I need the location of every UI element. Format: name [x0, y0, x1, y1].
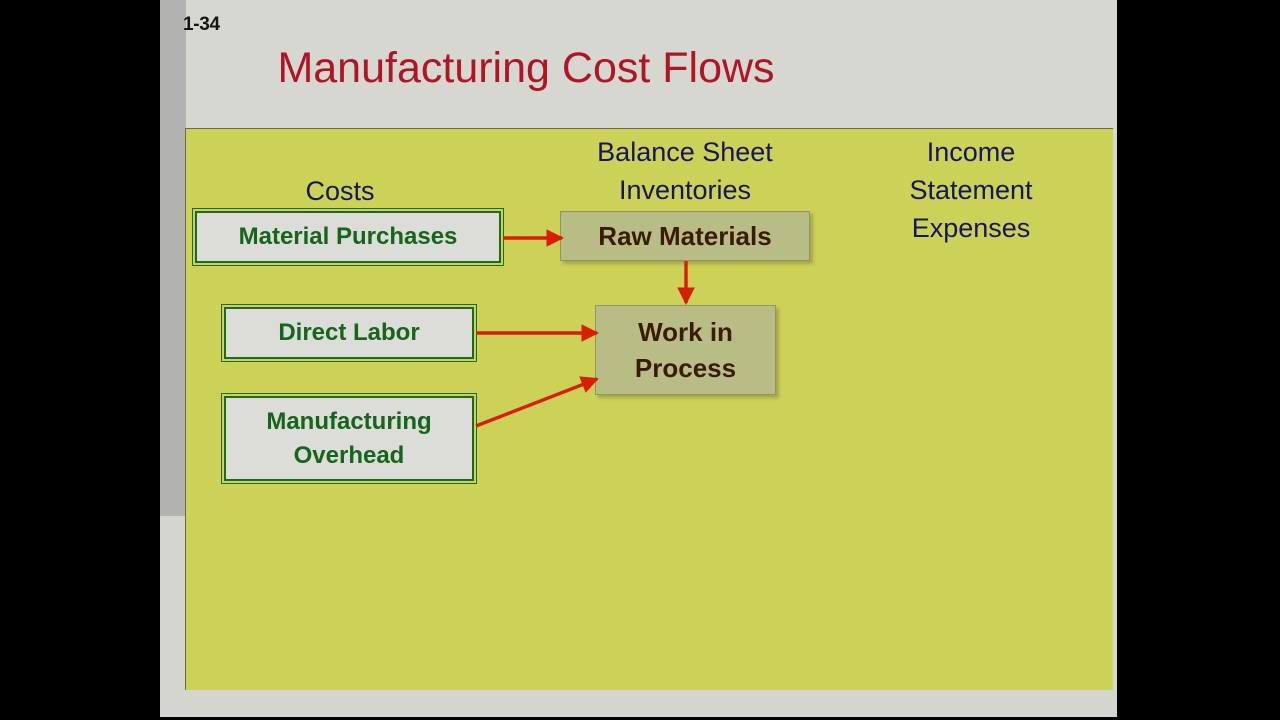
column-header-income-line3: Expenses: [875, 209, 1067, 247]
node-manufacturing-overhead-line2: Overhead: [266, 439, 431, 473]
node-material-purchases: Material Purchases: [195, 211, 501, 263]
slide-number: 1-34: [183, 14, 220, 36]
node-raw-materials-label: Raw Materials: [598, 218, 771, 254]
column-header-income-line2: Statement: [875, 171, 1067, 209]
node-direct-labor: Direct Labor: [224, 307, 474, 359]
node-material-purchases-label: Material Purchases: [239, 220, 458, 254]
node-manufacturing-overhead-line1: Manufacturing: [266, 405, 431, 439]
node-manufacturing-overhead: Manufacturing Overhead: [224, 396, 474, 481]
slide-screen: 1-34 Manufacturing Cost Flows Costs Bala…: [0, 0, 1280, 720]
slide-left-shadow-strip: [160, 0, 186, 516]
node-work-in-process: Work in Process: [595, 305, 776, 395]
column-header-balance-sheet-line1: Balance Sheet: [545, 133, 825, 171]
node-work-in-process-line2: Process: [635, 350, 736, 386]
node-raw-materials: Raw Materials: [560, 211, 810, 261]
page-title: Manufacturing Cost Flows: [186, 44, 866, 93]
column-header-costs: Costs: [190, 172, 490, 210]
node-work-in-process-line1: Work in: [635, 314, 736, 350]
column-header-balance-sheet: Balance Sheet Inventories: [545, 133, 825, 209]
node-direct-labor-label: Direct Labor: [278, 316, 419, 350]
column-header-income-statement: Income Statement Expenses: [875, 133, 1067, 247]
column-header-balance-sheet-line2: Inventories: [545, 171, 825, 209]
column-header-costs-label: Costs: [190, 172, 490, 210]
column-header-income-line1: Income: [875, 133, 1067, 171]
